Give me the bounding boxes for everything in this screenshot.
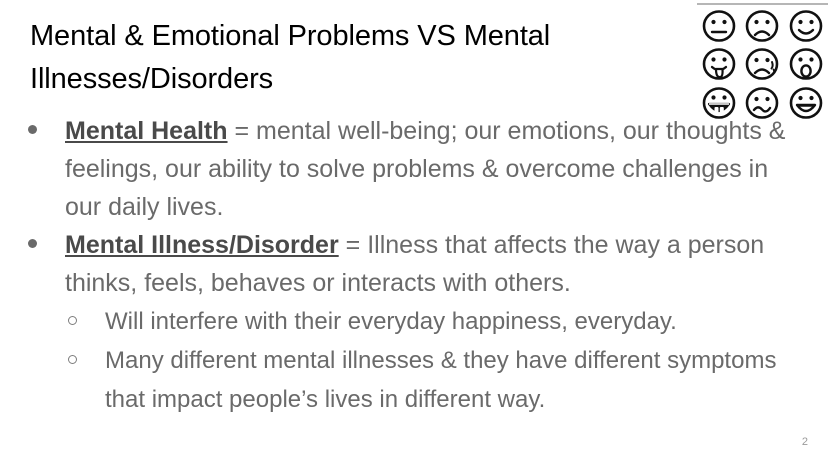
bullet-marker-filled-icon <box>28 125 37 134</box>
bullet-marker-hollow-icon <box>68 355 77 364</box>
bullet-separator: = <box>339 231 368 259</box>
slide-number: 2 <box>802 436 808 448</box>
frowning-face-icon <box>742 7 782 45</box>
tongue-out-face-icon <box>699 45 739 83</box>
sub-bullet-text: Will interfere with their everyday happi… <box>105 308 677 335</box>
sub-bullet-item-many-illnesses: Many different mental illnesses & they h… <box>0 341 790 419</box>
page-title: Mental & Emotional Problems VS Mental Il… <box>30 15 670 101</box>
sub-bullet-item-interfere: Will interfere with their everyday happi… <box>0 302 790 341</box>
bullet-term: Mental Health <box>65 117 228 145</box>
slide-body: Mental Health = mental well-being; our e… <box>0 112 790 419</box>
bullet-item-mental-illness: Mental Illness/Disorder = Illness that a… <box>0 226 790 302</box>
crying-face-icon <box>742 45 782 83</box>
smiling-face-icon <box>786 7 826 45</box>
bullet-marker-hollow-icon <box>68 316 77 325</box>
bullet-term: Mental Illness/Disorder <box>65 231 339 259</box>
slide: Mental & Emotional Problems VS Mental Il… <box>0 0 828 466</box>
big-smile-face-icon <box>786 84 826 122</box>
sub-bullet-text: Many different mental illnesses & they h… <box>105 347 776 413</box>
bullet-separator: = <box>228 117 257 145</box>
neutral-face-icon <box>699 7 739 45</box>
surprised-face-icon <box>786 45 826 83</box>
emoticon-grid <box>697 7 828 122</box>
bullet-marker-filled-icon <box>28 239 37 248</box>
emoticon-faces-image <box>697 3 828 122</box>
bullet-item-mental-health: Mental Health = mental well-being; our e… <box>0 112 790 226</box>
